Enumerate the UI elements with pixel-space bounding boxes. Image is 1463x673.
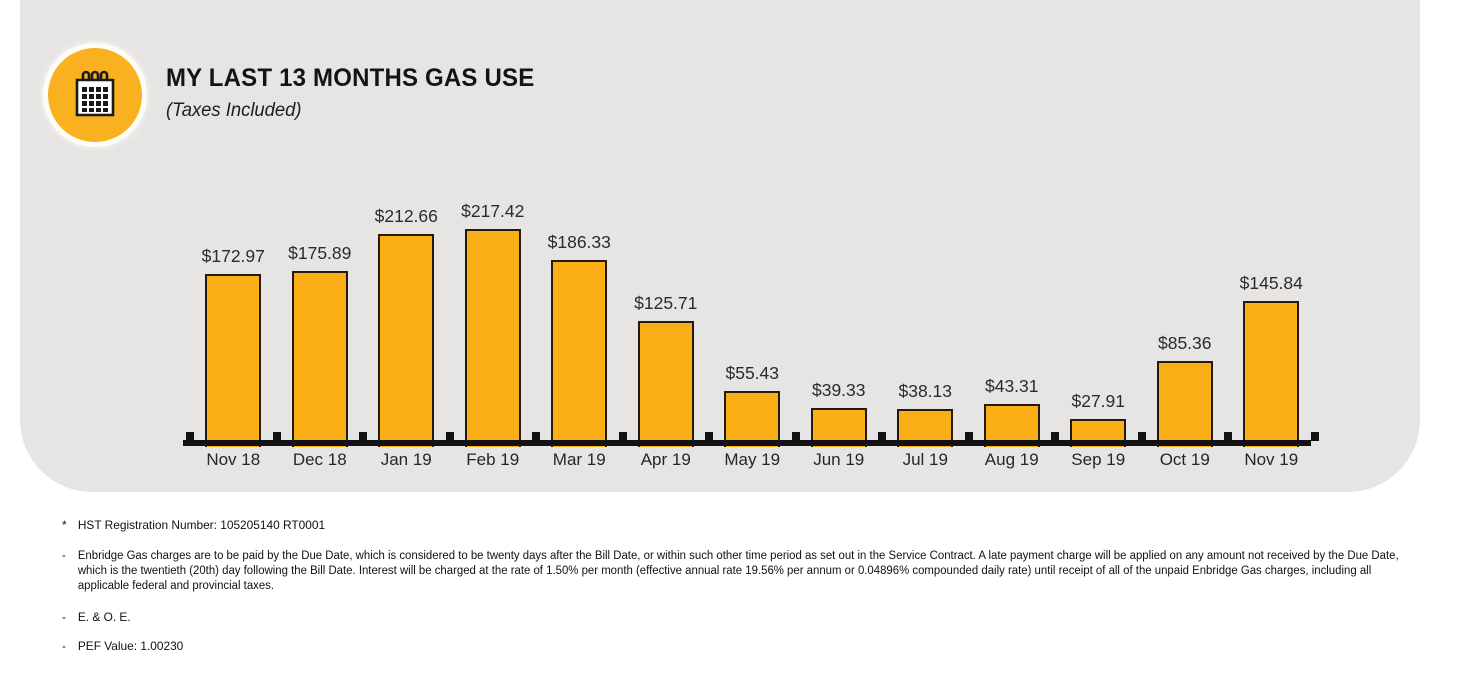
bar[interactable] xyxy=(205,274,261,447)
bar-value-label: $186.33 xyxy=(548,232,611,253)
bar-slot: $55.43 xyxy=(709,150,796,447)
bar-slot: $38.13 xyxy=(882,150,969,447)
x-axis-label: Sep 19 xyxy=(1055,450,1142,470)
bar-value-label: $38.13 xyxy=(898,381,952,402)
bar-value-label: $55.43 xyxy=(725,363,779,384)
x-axis-label: Apr 19 xyxy=(623,450,710,470)
axis-tick xyxy=(1311,432,1319,441)
note-marker: - xyxy=(62,610,71,625)
x-axis-label: Nov 19 xyxy=(1228,450,1315,470)
axis-tick xyxy=(619,432,627,441)
x-axis-label: Nov 18 xyxy=(190,450,277,470)
note-eoe: - E. & O. E. xyxy=(62,610,1408,625)
bar-slot: $186.33 xyxy=(536,150,623,447)
axis-tick xyxy=(186,432,194,441)
axis-tick xyxy=(1224,432,1232,441)
tick-slot xyxy=(277,432,364,441)
bar-slot: $39.33 xyxy=(796,150,883,447)
axis-tick xyxy=(705,432,713,441)
note-marker: - xyxy=(62,639,71,654)
calendar-icon xyxy=(48,48,142,142)
bar-value-label: $39.33 xyxy=(812,380,866,401)
note-hst: * HST Registration Number: 105205140 RT0… xyxy=(62,518,1408,533)
bar-value-label: $43.31 xyxy=(985,376,1039,397)
axis-tick xyxy=(1138,432,1146,441)
tick-slot xyxy=(363,432,450,441)
bar-slot: $85.36 xyxy=(1142,150,1229,447)
x-axis-label: May 19 xyxy=(709,450,796,470)
x-axis-label: Feb 19 xyxy=(450,450,537,470)
tick-slot xyxy=(450,432,537,441)
bar-value-label: $217.42 xyxy=(461,201,524,222)
bar-value-label: $85.36 xyxy=(1158,333,1212,354)
tick-slot xyxy=(882,432,969,441)
tick-slot xyxy=(1142,432,1229,441)
x-axis-label: Jun 19 xyxy=(796,450,883,470)
title-block: MY LAST 13 MONTHS GAS USE (Taxes Include… xyxy=(166,64,550,126)
x-axis-label: Dec 18 xyxy=(277,450,364,470)
axis-tick xyxy=(878,432,886,441)
tick-slot xyxy=(969,432,1056,441)
bar[interactable] xyxy=(465,229,521,447)
x-axis-label: Aug 19 xyxy=(969,450,1056,470)
axis-tick xyxy=(1051,432,1059,441)
bar-value-label: $145.84 xyxy=(1240,273,1303,294)
bar-series: $172.97$175.89$212.66$217.42$186.33$125.… xyxy=(190,150,1315,447)
bar-value-label: $172.97 xyxy=(202,246,265,267)
note-pef: - PEF Value: 1.00230 xyxy=(62,639,1408,654)
tick-slot xyxy=(796,432,883,441)
gas-use-chart-page: MY LAST 13 MONTHS GAS USE (Taxes Include… xyxy=(0,0,1463,673)
x-axis-label: Jan 19 xyxy=(363,450,450,470)
x-axis-label: Oct 19 xyxy=(1142,450,1229,470)
chart-header: MY LAST 13 MONTHS GAS USE (Taxes Include… xyxy=(48,48,550,142)
bar-value-label: $175.89 xyxy=(288,243,351,264)
bar-value-label: $27.91 xyxy=(1071,391,1125,412)
note-hst-text: HST Registration Number: 105205140 RT000… xyxy=(78,518,325,533)
x-axis-ticks xyxy=(190,432,1315,441)
axis-tick xyxy=(532,432,540,441)
bar-value-label: $212.66 xyxy=(375,206,438,227)
note-terms: - Enbridge Gas charges are to be paid by… xyxy=(62,549,1408,593)
x-axis-labels: Nov 18Dec 18Jan 19Feb 19Mar 19Apr 19May … xyxy=(190,450,1315,470)
axis-tick xyxy=(273,432,281,441)
axis-tick xyxy=(446,432,454,441)
tick-slot xyxy=(190,432,277,441)
axis-tick xyxy=(965,432,973,441)
bar-slot: $145.84 xyxy=(1228,150,1315,447)
note-eoe-text: E. & O. E. xyxy=(78,610,131,625)
page-title: MY LAST 13 MONTHS GAS USE xyxy=(166,64,534,93)
bar-slot: $172.97 xyxy=(190,150,277,447)
axis-tick xyxy=(792,432,800,441)
page-subtitle: (Taxes Included) xyxy=(166,100,538,122)
note-terms-text: Enbridge Gas charges are to be paid by t… xyxy=(78,549,1409,593)
note-pef-text: PEF Value: 1.00230 xyxy=(78,639,183,654)
tick-slot xyxy=(1228,432,1315,441)
note-marker: - xyxy=(62,549,71,593)
bar[interactable] xyxy=(378,234,434,447)
tick-slot xyxy=(1055,432,1142,441)
bar-slot: $175.89 xyxy=(277,150,364,447)
footnotes: * HST Registration Number: 105205140 RT0… xyxy=(62,518,1422,654)
bar-slot: $27.91 xyxy=(1055,150,1142,447)
bar[interactable] xyxy=(551,260,607,447)
bar-slot: $125.71 xyxy=(623,150,710,447)
tick-slot xyxy=(709,432,796,441)
bar[interactable] xyxy=(638,321,694,447)
bar-slot: $217.42 xyxy=(450,150,537,447)
x-axis-label: Mar 19 xyxy=(536,450,623,470)
bar-value-label: $125.71 xyxy=(634,293,697,314)
note-marker: * xyxy=(62,518,71,533)
axis-tick xyxy=(359,432,367,441)
bar-slot: $43.31 xyxy=(969,150,1056,447)
bar-chart-plot: $172.97$175.89$212.66$217.42$186.33$125.… xyxy=(190,150,1315,447)
bar[interactable] xyxy=(1243,301,1299,447)
tick-slot xyxy=(536,432,623,441)
bar-slot: $212.66 xyxy=(363,150,450,447)
x-axis-label: Jul 19 xyxy=(882,450,969,470)
tick-slot xyxy=(623,432,710,441)
bar[interactable] xyxy=(292,271,348,447)
